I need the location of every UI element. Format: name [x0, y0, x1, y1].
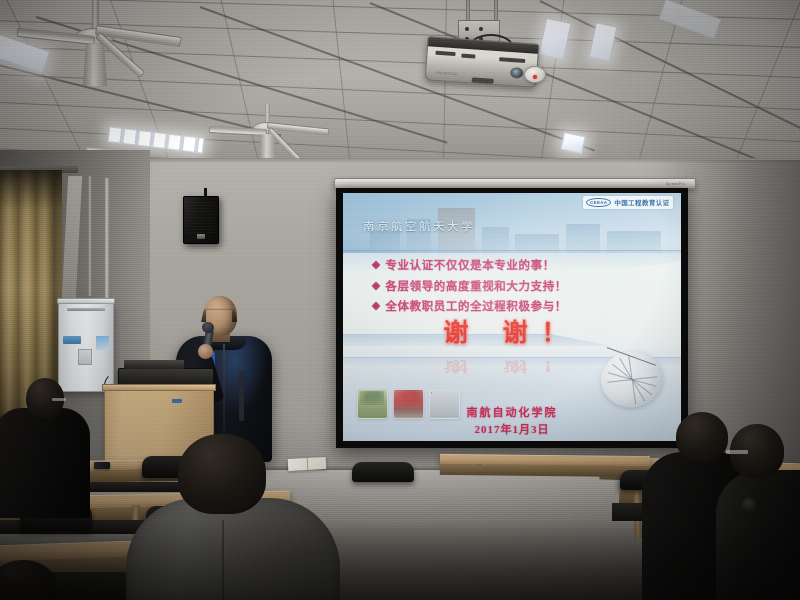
- certification-badge: CEEAA 中国工程教育认证: [583, 196, 672, 209]
- eyeglasses: [52, 398, 66, 401]
- slide-bullet-item: 专业认证不仅仅是本专业的事！: [373, 257, 664, 273]
- audience-head: [178, 434, 266, 514]
- slide-bullet-text: 专业认证不仅仅是本专业的事！: [385, 257, 554, 273]
- ceiling-fan: [30, 0, 160, 92]
- lectern-label-tag: [172, 399, 182, 403]
- projected-slide: 南京航空航天大学 CEEAA 中国工程教育认证 专业认证不仅仅是本专业的事！: [343, 193, 681, 441]
- ceiling-light-panel-dim: [658, 0, 722, 40]
- air-conditioner-panel[interactable]: [78, 349, 92, 365]
- certification-badge-text: 中国工程教育认证: [614, 197, 669, 207]
- slide-header-band: 南京航空航天大学 CEEAA 中国工程教育认证: [343, 193, 681, 253]
- screen-case-brand-label: ScreenPro: [666, 182, 685, 186]
- audience-head: [676, 412, 728, 462]
- projector-lens-icon: [510, 67, 524, 79]
- jacket-emblem-icon: [742, 498, 756, 512]
- slide-bullet-text: 各层领导的高度重视和大力支持！: [385, 278, 567, 294]
- podium-equipment-secondary[interactable]: [124, 360, 184, 369]
- ceiling-light-panel: [560, 132, 585, 154]
- slide-bullet-item: 全体教职员工的全过程积极参与！: [373, 298, 664, 314]
- speaker-badge-icon: [197, 234, 205, 239]
- diamond-bullet-icon: [372, 302, 380, 310]
- slide-bullet-text: 全体教职员工的全过程积极参与！: [385, 298, 567, 314]
- smoke-detector-led-icon: [533, 75, 537, 79]
- slide-bullet-item: 各层领导的高度重视和大力支持！: [373, 278, 664, 294]
- ceeaa-mark-icon: CEEAA: [586, 198, 611, 207]
- projection-screen: 南京航空航天大学 CEEAA 中国工程教育认证 专业认证不仅仅是本专业的事！: [336, 188, 688, 448]
- lecture-hall-photo: PROJECTOR ScreenPro: [0, 0, 800, 600]
- diamond-bullet-icon: [372, 261, 380, 269]
- slide-institution-title: 南京航空航天大学: [363, 218, 475, 234]
- projector-brand-label: PROJECTOR: [436, 71, 458, 76]
- ceiling-light-panel: [538, 18, 571, 61]
- air-conditioner-sticker: [96, 336, 109, 350]
- wall-speaker: [183, 196, 219, 244]
- wall-pipe: [88, 176, 92, 296]
- air-conditioner-sticker: [63, 336, 81, 344]
- slide-footer-date: 2017年1月3日: [343, 421, 681, 437]
- slide-thanks-text: 谢 谢！: [343, 313, 681, 349]
- desk-row: [440, 454, 650, 466]
- slide-footer-org: 南航自动化学院: [343, 404, 681, 420]
- foreground-shadow: [0, 520, 800, 600]
- chair-back: [352, 462, 414, 482]
- smoke-detector: [524, 66, 546, 83]
- smartphone[interactable]: [94, 462, 110, 469]
- audience-body: [0, 408, 90, 518]
- presenter-hand: [198, 344, 213, 359]
- diamond-bullet-icon: [372, 282, 380, 290]
- slide-bullet-list: 专业认证不仅仅是本专业的事！ 各层领导的高度重视和大力支持！ 全体教职员工的全过…: [373, 257, 664, 319]
- sundial-graphic: [601, 345, 667, 411]
- open-notebook: [288, 457, 327, 471]
- eyeglasses: [726, 450, 748, 454]
- slide-footer: 南航自动化学院 2017年1月3日: [343, 404, 681, 437]
